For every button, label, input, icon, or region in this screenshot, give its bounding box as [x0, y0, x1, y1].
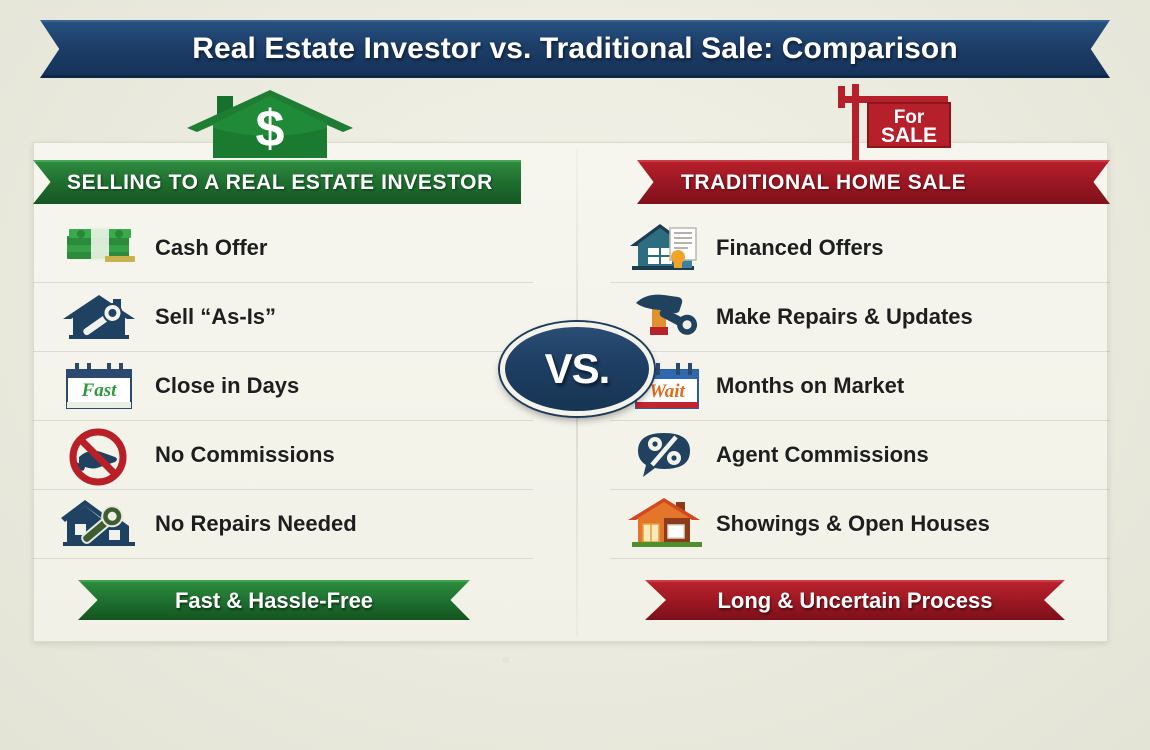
house-wrench-icon	[61, 289, 141, 345]
page-title: Real Estate Investor vs. Traditional Sal…	[192, 32, 958, 66]
traditional-feature-list: Financed Offers Make Repairs & Updates	[610, 214, 1110, 559]
list-item: Sell “As-Is”	[33, 283, 533, 352]
investor-summary-label: Fast & Hassle-Free	[175, 588, 373, 614]
list-item-label: Make Repairs & Updates	[716, 304, 973, 330]
list-item-label: Close in Days	[155, 373, 299, 399]
cash-stack-icon	[61, 220, 141, 276]
traditional-header-label: TRADITIONAL HOME SALE	[681, 171, 966, 195]
no-commission-icon	[61, 427, 141, 483]
list-item-label: Months on Market	[716, 373, 904, 399]
list-item-label: Sell “As-Is”	[155, 304, 276, 330]
investor-summary-ribbon: Fast & Hassle-Free	[78, 580, 470, 620]
list-item: Make Repairs & Updates	[610, 283, 1110, 352]
percent-speech-icon	[630, 427, 706, 483]
list-item: No Commissions	[33, 421, 533, 490]
list-item-label: No Commissions	[155, 442, 335, 468]
traditional-summary-label: Long & Uncertain Process	[717, 588, 992, 614]
list-item: Agent Commissions	[610, 421, 1110, 490]
title-ribbon: Real Estate Investor vs. Traditional Sal…	[40, 20, 1110, 78]
list-item-label: No Repairs Needed	[155, 511, 357, 537]
for-sale-sign-icon: For SALE	[820, 82, 970, 162]
list-item: Showings & Open Houses	[610, 490, 1110, 559]
list-item-label: Agent Commissions	[716, 442, 929, 468]
list-item-label: Showings & Open Houses	[716, 511, 990, 537]
orange-house-icon	[630, 496, 706, 552]
traditional-column-header: TRADITIONAL HOME SALE	[637, 160, 1110, 204]
list-item-label: Cash Offer	[155, 235, 267, 261]
green-house-with-dollar-sign-icon: $	[185, 88, 355, 160]
list-item: Cash Offer	[33, 214, 533, 283]
hammer-wrench-icon	[630, 289, 706, 345]
calendar-fast-icon: Fast	[61, 358, 141, 414]
list-item-label: Financed Offers	[716, 235, 883, 261]
house-no-repairs-icon	[61, 496, 141, 552]
for-sale-text-sale: SALE	[881, 124, 937, 147]
list-item: Wait Months on Market	[610, 352, 1110, 421]
investor-header-label: SELLING TO A REAL ESTATE INVESTOR	[67, 171, 493, 195]
investor-column-header: SELLING TO A REAL ESTATE INVESTOR	[33, 160, 521, 204]
list-item: No Repairs Needed	[33, 490, 533, 559]
calendar-fast-text: Fast	[81, 380, 118, 401]
svg-text:$: $	[256, 100, 285, 158]
calendar-wait-text: Wait	[649, 381, 685, 402]
house-document-icon	[630, 220, 706, 276]
vs-badge: VS.	[500, 322, 654, 416]
list-item: Financed Offers	[610, 214, 1110, 283]
traditional-summary-ribbon: Long & Uncertain Process	[645, 580, 1065, 620]
investor-feature-list: Cash Offer Sell “As-Is”	[33, 214, 533, 559]
list-item: Fast Close in Days	[33, 352, 533, 421]
vs-label: VS.	[545, 345, 610, 393]
